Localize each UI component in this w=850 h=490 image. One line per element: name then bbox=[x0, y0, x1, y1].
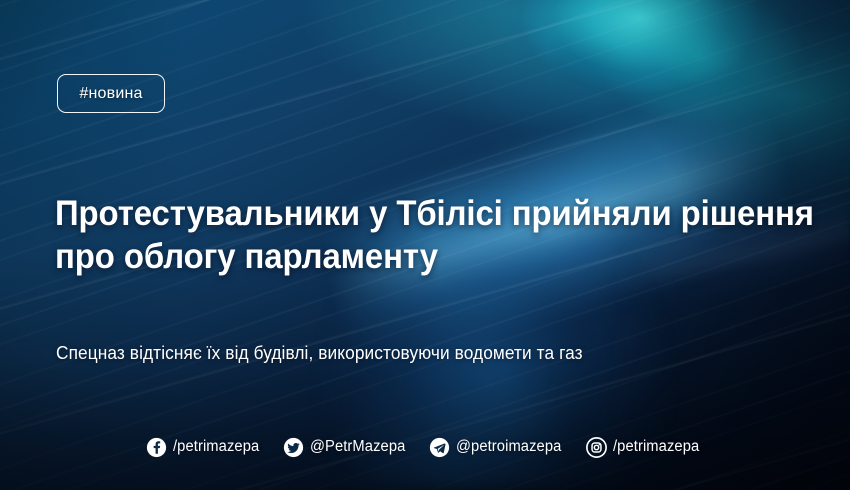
instagram-icon bbox=[586, 437, 607, 458]
facebook-icon bbox=[146, 437, 167, 458]
category-tag-badge[interactable]: #новина bbox=[57, 74, 165, 113]
social-link-instagram[interactable]: /petrimazepa bbox=[586, 437, 704, 458]
social-handle-facebook: /petrimazepa bbox=[173, 438, 259, 456]
page-title: Протестувальники у Тбілісі прийняли ріше… bbox=[55, 192, 727, 278]
banner-content: #новина Протестувальники у Тбілісі прийн… bbox=[0, 0, 850, 490]
subtitle-text: Спецназ відтісняє їх від будівлі, викори… bbox=[56, 341, 583, 365]
social-link-telegram[interactable]: @petroimazepa bbox=[429, 437, 567, 458]
headline-line-1: Протестувальники у Тбілісі прийняли ріше… bbox=[55, 192, 727, 235]
news-banner-card: #новина Протестувальники у Тбілісі прийн… bbox=[0, 0, 850, 490]
telegram-icon bbox=[429, 437, 450, 458]
social-link-twitter[interactable]: @PetrMazepa bbox=[283, 437, 410, 458]
social-handle-twitter: @PetrMazepa bbox=[310, 438, 405, 456]
twitter-icon bbox=[283, 437, 304, 458]
social-links-bar: /petrimazepa @PetrMazepa @petroimazepa bbox=[0, 434, 850, 460]
social-handle-telegram: @petroimazepa bbox=[456, 438, 561, 456]
headline-line-2: про облогу парламенту bbox=[55, 235, 727, 278]
social-handle-instagram: /petrimazepa bbox=[613, 438, 699, 456]
social-link-facebook[interactable]: /petrimazepa bbox=[146, 437, 264, 458]
